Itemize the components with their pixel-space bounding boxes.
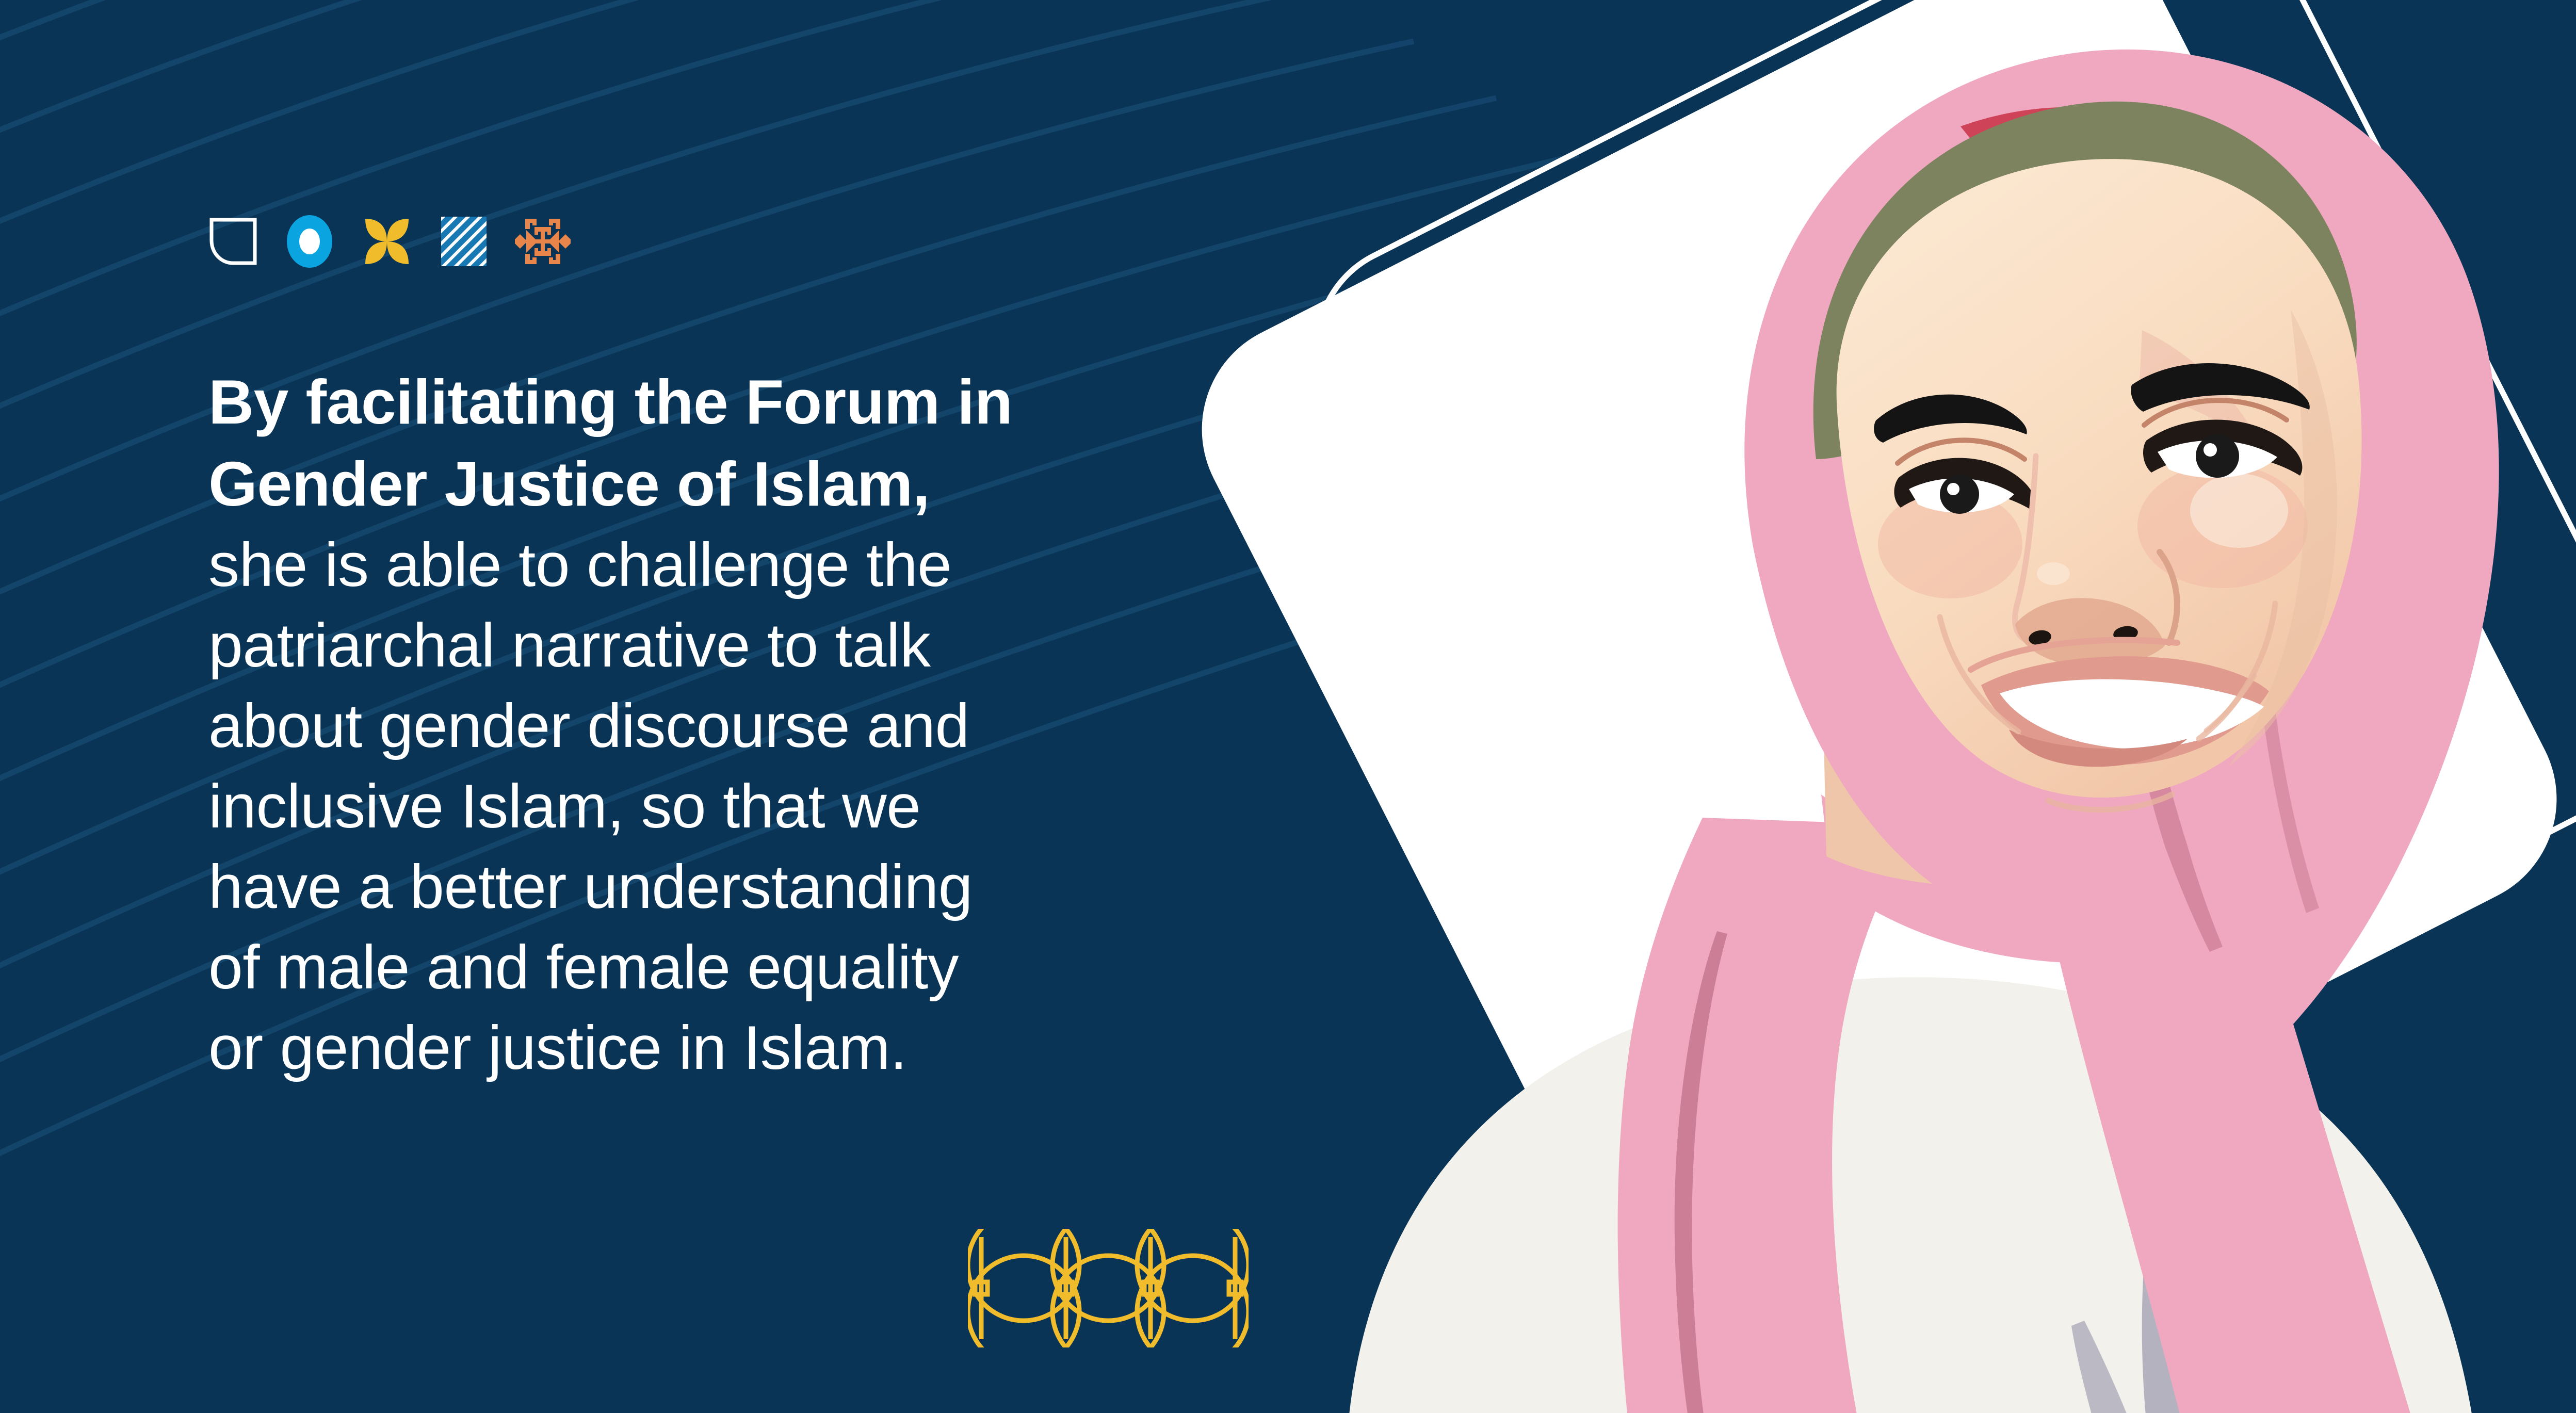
quote-card-canvas: By facilitating the Forum in Gender Just… bbox=[0, 0, 2576, 1413]
portrait-svg bbox=[1176, 0, 2576, 1413]
hatched-square-icon bbox=[441, 217, 487, 266]
portrait-illustration bbox=[1176, 0, 2576, 1413]
four-petal-star-icon bbox=[361, 216, 413, 267]
geometric-motif-icon bbox=[515, 218, 571, 265]
islamic-circle-lattice-ornament bbox=[968, 1229, 1249, 1347]
decorative-icon-strip bbox=[208, 210, 571, 272]
donut-circle-icon bbox=[286, 215, 333, 268]
quarter-arc-outline-icon bbox=[208, 217, 258, 266]
quote-text-block: By facilitating the Forum in Gender Just… bbox=[208, 361, 1240, 1088]
quote-headline: By facilitating the Forum in Gender Just… bbox=[208, 361, 1240, 525]
quote-body: she is able to challenge the patriarchal… bbox=[208, 525, 1240, 1088]
